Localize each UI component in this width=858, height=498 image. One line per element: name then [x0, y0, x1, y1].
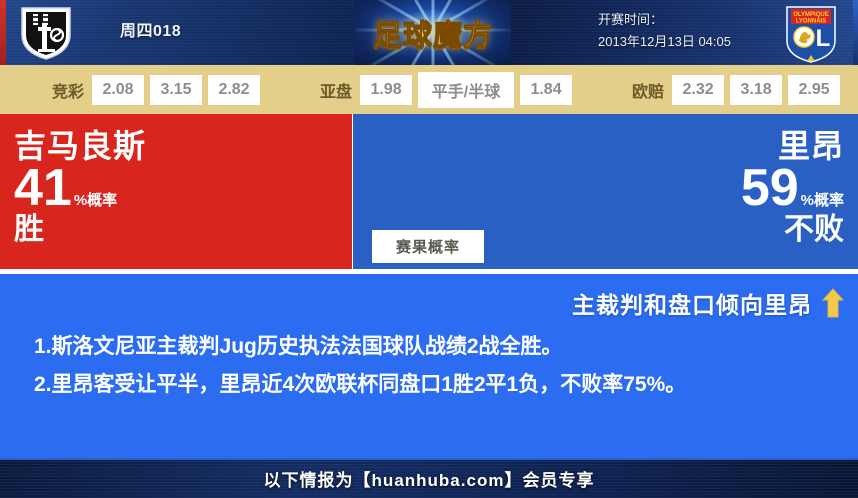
away-probability-block: 里昂 59%概率 不败 [741, 128, 844, 248]
info-line-1: 1.斯洛文尼亚主裁判Jug历史执法法国球队战绩2战全胜。 [34, 328, 824, 366]
header-edge-blue [853, 0, 858, 65]
odds-group-jingcai: 竞彩 2.08 3.15 2.82 [52, 75, 266, 105]
match-preview-card: 周四018 足球魔方 开赛时间： 2013年12月13日 04:05 OLYMP… [0, 0, 858, 498]
odds-label-oupei: 欧赔 [632, 78, 664, 102]
info-line-2: 2.里昂客受让平半，里昂近4次欧联杯同盘口1胜2平1负，不败率75%。 [34, 366, 824, 404]
odds-cell-yapan-handicap[interactable]: 平手/半球 [418, 72, 514, 108]
away-probability-result: 不败 [741, 212, 844, 248]
home-team-crest-icon [18, 5, 74, 61]
home-probability-block: 吉马良斯 41%概率 胜 [14, 128, 146, 248]
odds-cell-oupei-2[interactable]: 3.18 [730, 75, 782, 105]
home-probability-panel: 吉马良斯 41%概率 胜 [0, 114, 352, 269]
tab-result-probability[interactable]: 赛果概率 [372, 230, 484, 263]
odds-bar: 竞彩 2.08 3.15 2.82 亚盘 1.98 平手/半球 1.84 欧赔 … [0, 65, 858, 114]
footer-bar: 以下情报为【huanhuba.com】会员专享 [0, 458, 858, 498]
svg-text:L: L [816, 25, 831, 52]
brand-logo: 足球魔方 [355, 0, 511, 65]
footer-notice: 以下情报为【huanhuba.com】会员专享 [0, 458, 858, 498]
kickoff-label: 开赛时间： [598, 9, 768, 31]
odds-group-oupei: 欧赔 2.32 3.18 2.95 [632, 75, 846, 105]
away-probability-value: 59 [741, 159, 799, 217]
odds-cell-jingcai-2[interactable]: 3.15 [150, 75, 202, 105]
home-probability-result: 胜 [14, 212, 146, 248]
home-probability-value: 41 [14, 159, 72, 217]
odds-cell-oupei-3[interactable]: 2.95 [788, 75, 840, 105]
odds-label-jingcai: 竞彩 [52, 78, 84, 102]
away-team-crest-icon: OLYMPIQUE LYONNAIS L [782, 3, 840, 63]
arrow-up-icon [822, 288, 844, 318]
header-bar: 周四018 足球魔方 开赛时间： 2013年12月13日 04:05 OLYMP… [0, 0, 858, 65]
match-number: 周四018 [120, 17, 181, 41]
odds-cell-yapan-1[interactable]: 1.98 [360, 75, 412, 105]
kickoff-value: 2013年12月13日 04:05 [598, 31, 768, 53]
probability-section: 吉马良斯 41%概率 胜 里昂 59%概率 不败 赛果概率 本场比赛吉马良斯获胜… [0, 114, 858, 269]
svg-text:LYONNAIS: LYONNAIS [796, 19, 826, 25]
odds-cell-yapan-2[interactable]: 1.84 [520, 75, 572, 105]
info-lines: 1.斯洛文尼亚主裁判Jug历史执法法国球队战绩2战全胜。 2.里昂客受让平半，里… [34, 328, 824, 404]
home-probability-suffix: %概率 [74, 192, 117, 209]
svg-text:OLYMPIQUE: OLYMPIQUE [793, 12, 828, 18]
odds-cell-jingcai-3[interactable]: 2.82 [208, 75, 260, 105]
odds-cell-oupei-1[interactable]: 2.32 [672, 75, 724, 105]
info-header: 主裁判和盘口倾向里昂 [572, 286, 844, 320]
odds-label-yapan: 亚盘 [320, 78, 352, 102]
odds-group-yapan: 亚盘 1.98 平手/半球 1.84 [320, 72, 578, 108]
info-title: 主裁判和盘口倾向里昂 [572, 286, 812, 320]
kickoff-time: 开赛时间： 2013年12月13日 04:05 [598, 9, 768, 53]
header-edge-red [0, 0, 6, 65]
odds-cell-jingcai-1[interactable]: 2.08 [92, 75, 144, 105]
brand-title: 足球魔方 [355, 0, 511, 65]
info-section: 主裁判和盘口倾向里昂 1.斯洛文尼亚主裁判Jug历史执法法国球队战绩2战全胜。 … [0, 274, 858, 458]
away-probability-suffix: %概率 [801, 192, 844, 209]
